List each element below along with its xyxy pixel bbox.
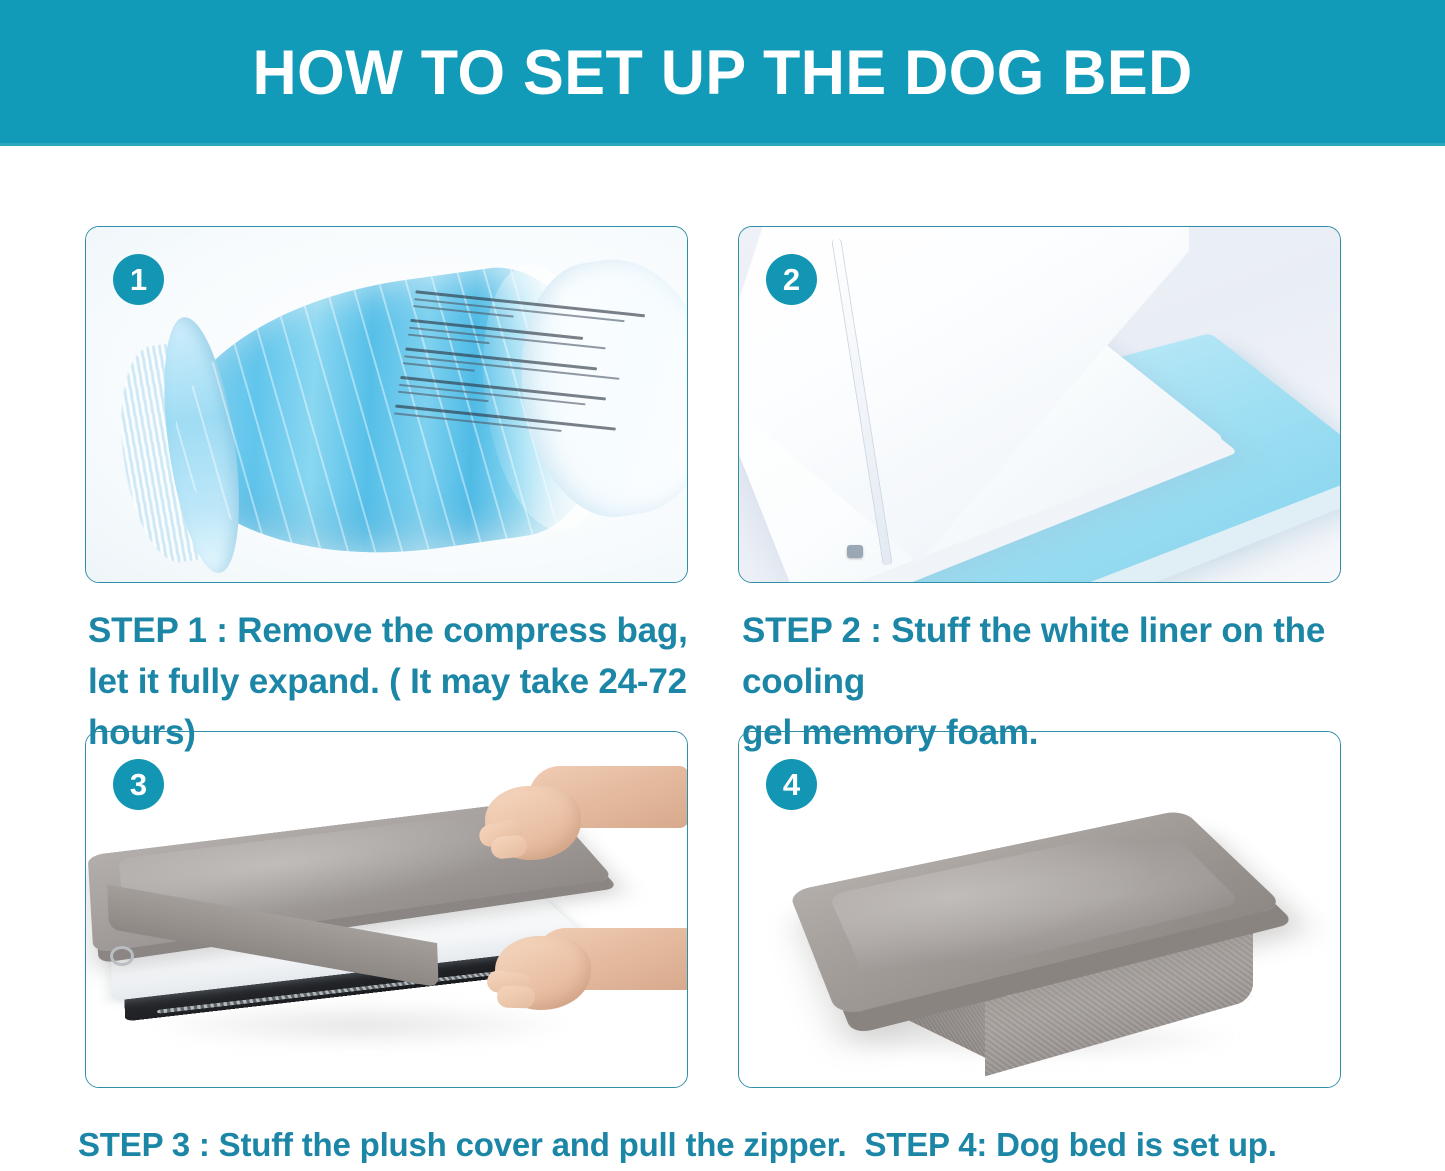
step-3-caption: STEP 3 : Stuff the plush cover and pull … [78, 1121, 846, 1169]
header-banner: HOW TO SET UP THE DOG BED [0, 0, 1445, 146]
step-card-4: 4 [738, 731, 1341, 1088]
step-1-caption-line-1: STEP 1 : Remove the compress bag, [88, 606, 728, 657]
step-badge-1: 1 [113, 254, 164, 305]
liner-over-gel-foam-photo [739, 227, 1340, 582]
steps-grid: 1 2 [0, 146, 1445, 1171]
compressed-bag-photo [86, 227, 687, 582]
zipper-pull-icon [110, 946, 134, 966]
step-badge-2: 2 [766, 254, 817, 305]
hand-lower [495, 914, 685, 1024]
foam-roll-illustration [156, 250, 662, 583]
finished-dog-bed-photo [739, 732, 1340, 1087]
page-title: HOW TO SET UP THE DOG BED [252, 42, 1192, 105]
step-card-3: 3 [85, 731, 688, 1088]
step-4-caption: STEP 4: Dog bed is set up. [864, 1121, 1276, 1169]
step-1-photo-panel: 1 [85, 226, 688, 583]
step-badge-3: 3 [113, 759, 164, 810]
hand-upper [479, 760, 679, 880]
bottom-captions-row: STEP 3 : Stuff the plush cover and pull … [78, 1121, 1418, 1169]
step-3-photo-panel: 3 [85, 731, 688, 1088]
step-4-photo-panel: 4 [738, 731, 1341, 1088]
step-1-caption-line-2: let it fully expand. ( It may take 24-72… [88, 657, 728, 759]
step-2-caption: STEP 2 : Stuff the white liner on the co… [742, 606, 1382, 758]
zipper-pull-icon [847, 545, 863, 558]
step-2-caption-line-1: STEP 2 : Stuff the white liner on the co… [742, 606, 1382, 708]
step-card-2: 2 [738, 226, 1341, 583]
step-1-caption: STEP 1 : Remove the compress bag, let it… [88, 606, 728, 758]
step-card-1: 1 [85, 226, 688, 583]
stuffing-plush-cover-photo [86, 732, 687, 1087]
step-badge-4: 4 [766, 759, 817, 810]
warning-label-text [383, 290, 655, 502]
step-2-caption-line-2: gel memory foam. [742, 708, 1382, 759]
step-2-photo-panel: 2 [738, 226, 1341, 583]
